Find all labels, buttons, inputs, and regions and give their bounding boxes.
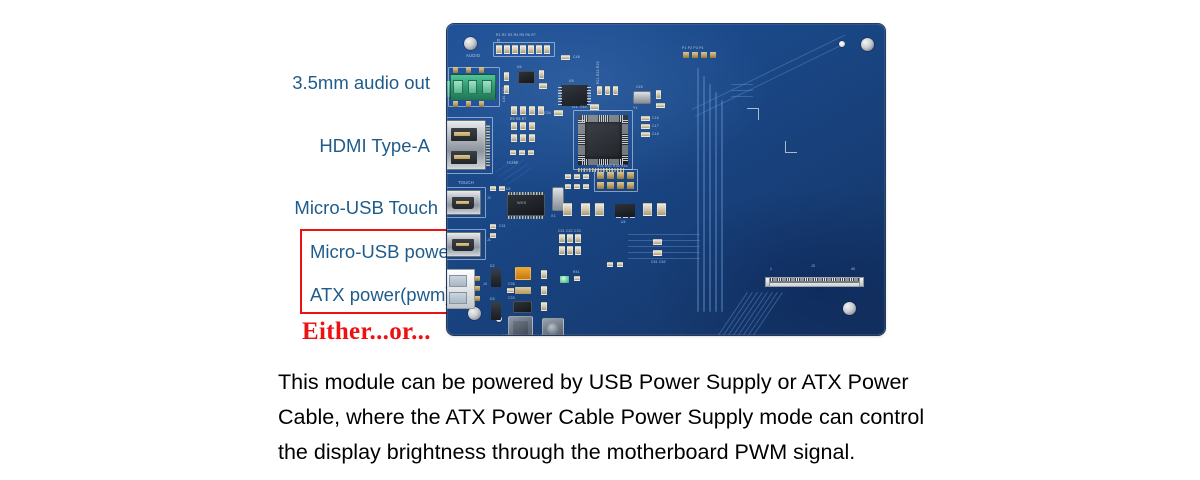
pcb-trace [628, 252, 700, 253]
smd-resistor [529, 122, 535, 130]
callout-label-hdmi: HDMI Type-A [60, 135, 430, 157]
smd-ic-wxs [507, 194, 545, 216]
pcb-trace [731, 90, 753, 91]
silkscreen-outline [594, 169, 638, 192]
smd-resistor [490, 233, 496, 238]
solder-pad [475, 286, 480, 291]
smd-resistor [541, 270, 547, 279]
smd-resistor [574, 184, 580, 189]
smd-resistor [520, 106, 526, 115]
smd-resistor [581, 203, 590, 216]
smd-resistor [529, 106, 535, 115]
smd-resistor [520, 134, 526, 142]
solder-pad [479, 101, 484, 107]
pcb-trace [692, 34, 845, 110]
smd-resistor [559, 234, 565, 243]
silkscreen-text: R31 R32 R33 R34 [597, 164, 628, 169]
description-line-2: Cable, where the ATX Power Cable Power S… [278, 400, 978, 435]
smd-resistor [574, 174, 580, 179]
smd-resistor [643, 203, 652, 216]
solder-pad [466, 101, 471, 107]
smd-resistor [595, 203, 604, 216]
description-line-1: This module can be powered by USB Power … [278, 365, 978, 400]
smd-resistor [541, 286, 547, 295]
pcb-trace [628, 246, 700, 247]
tact-switch[interactable] [542, 318, 564, 335]
solder-pad [453, 67, 458, 73]
smd-resistor [617, 262, 623, 267]
smd-resistor [490, 224, 496, 229]
pcb-trace [695, 42, 847, 117]
silkscreen-outline [493, 42, 555, 57]
smd-resistor [575, 246, 581, 255]
solder-pad [710, 52, 716, 58]
smd-resistor [567, 234, 573, 243]
ic-pin-row [508, 216, 544, 219]
smd-resistor [539, 83, 547, 89]
pcb-trace [715, 92, 717, 312]
solder-pad [692, 52, 698, 58]
smd-resistor [520, 122, 526, 130]
via-hole [839, 41, 845, 47]
mounting-hole [861, 38, 874, 51]
silkscreen-text-ffc-pin1: 1 [770, 267, 772, 272]
silkscreen-text: D3 [490, 297, 495, 302]
silkscreen-text: R9 R8 R7 [510, 117, 527, 122]
silkscreen-text: J4 [483, 282, 487, 287]
silkscreen-text: U2 [506, 187, 511, 192]
status-led [560, 276, 569, 283]
connector-ffc-40pin[interactable] [765, 273, 864, 287]
silkscreen-text: C41 C42 [502, 87, 507, 102]
smd-resistor [490, 186, 496, 191]
silkscreen-text: U6 [517, 65, 522, 70]
mounting-hole [843, 302, 856, 315]
smd-resistor [563, 203, 572, 216]
smd-resistor [511, 122, 517, 130]
smd-resistor [511, 106, 517, 115]
silkscreen-text-audio: AUDIO [466, 53, 480, 58]
smd-resistor [561, 55, 570, 60]
smd-resistor [529, 134, 535, 142]
smd-resistor [641, 124, 650, 129]
smd-resistor [528, 150, 534, 155]
silkscreen-text: C36 [508, 282, 515, 287]
silkscreen-text: X1 [551, 214, 556, 219]
silkscreen-text: C17 [652, 124, 659, 129]
smd-resistor [565, 184, 571, 189]
smd-resistor [510, 150, 516, 155]
silkscreen-text-inductor: L3 [503, 334, 507, 335]
silkscreen-text-regulator: U4 [621, 220, 626, 225]
silkscreen-text: R21 R22 R23 [596, 61, 601, 84]
pcb-trace [628, 234, 700, 235]
pcb-trace [721, 100, 723, 312]
silkscreen-text: C34 [544, 111, 551, 116]
smd-resistor [499, 186, 505, 191]
smd-resistor [653, 250, 662, 256]
pcb-board: R R1 R2 R3 R4 R5 R6 R7 C48 AUDIO C41 C42 [447, 24, 885, 335]
smd-resistor [565, 174, 571, 179]
description-paragraph: This module can be powered by USB Power … [278, 365, 978, 470]
silkscreen-text: J1 [487, 238, 491, 243]
smd-resistor [511, 134, 517, 142]
crystal-oscillator [633, 91, 651, 104]
silkscreen-text: P1 P2 P3 P4 [682, 46, 704, 51]
voltage-regulator [615, 204, 635, 217]
silkscreen-text: J2 [487, 196, 491, 201]
either-or-note: Either...or... [302, 318, 431, 346]
smd-resistor [507, 288, 514, 293]
solder-pad [701, 52, 707, 58]
smd-ic [518, 71, 535, 84]
silkscreen-text-ffc-designator: J3 [811, 264, 815, 269]
smd-resistor [641, 116, 650, 121]
power-inductor [508, 316, 533, 335]
smd-ic [513, 301, 532, 313]
solder-pad [683, 52, 689, 58]
solder-pad [466, 67, 471, 73]
solder-pad [475, 296, 480, 301]
smd-resistor [541, 302, 547, 311]
pcb-trace [709, 84, 711, 312]
description-line-3: the display brightness through the mothe… [278, 435, 978, 470]
smd-resistor [590, 104, 599, 110]
silkscreen-text: R1 R2 R3 R4 R5 R6 R7 [496, 33, 536, 38]
silkscreen-outline [447, 117, 493, 174]
silkscreen-outline [447, 229, 486, 260]
solder-pad [475, 276, 480, 281]
smd-resistor [574, 276, 580, 281]
silkscreen-text: C16 [652, 116, 659, 121]
figure-canvas: 3.5mm audio out HDMI Type-A Micro-USB To… [0, 0, 1200, 480]
silkscreen-text: C31 [499, 224, 506, 229]
smd-resistor [607, 262, 613, 267]
solder-pad [453, 101, 458, 107]
smd-resistor [554, 110, 563, 116]
silkscreen-text: D2 [490, 264, 495, 269]
smd-resistor [605, 86, 610, 95]
ic-pin-row [508, 192, 544, 195]
smd-resistor [504, 72, 509, 81]
callout-label-audio-out: 3.5mm audio out [60, 72, 430, 94]
silkscreen-text: C18 [652, 132, 659, 137]
smd-ic-soic [561, 85, 588, 106]
silkscreen-outline [573, 110, 633, 170]
smd-resistor [641, 132, 650, 137]
silkscreen-text: Y1 [633, 106, 638, 111]
silkscreen-corner-mark [747, 108, 759, 120]
smd-resistor [657, 203, 666, 216]
silkscreen-text: C48 [573, 55, 580, 60]
silkscreen-text: R41 [573, 270, 580, 275]
smd-capacitor [515, 287, 531, 294]
mounting-hole [464, 37, 477, 50]
silkscreen-text: C51 C52 [651, 260, 666, 265]
silkscreen-text: C45 [636, 85, 643, 90]
silkscreen-text-soic: U5 [569, 79, 574, 84]
smd-resistor [597, 86, 602, 95]
silkscreen-text: C21 C22 C23 [558, 229, 581, 234]
solder-pad [479, 67, 484, 73]
smd-diode [491, 302, 501, 320]
ic-marking: WXS [517, 200, 526, 205]
smd-resistor [583, 174, 589, 179]
silkscreen-text: C40 [580, 105, 587, 110]
silkscreen-text-touch: TOUCH [458, 180, 474, 185]
smd-resistor [656, 90, 661, 99]
silkscreen-outline [447, 187, 486, 218]
silkscreen-text-ffc-pin40: 40 [851, 267, 855, 272]
pcb-trace [628, 240, 700, 241]
smd-resistor [559, 246, 565, 255]
smd-diode [491, 269, 501, 287]
silkscreen-corner-mark [785, 141, 797, 153]
tantalum-capacitor [515, 267, 531, 280]
smd-resistor [583, 184, 589, 189]
connector-atx-power[interactable] [447, 269, 475, 309]
smd-resistor [519, 150, 525, 155]
callout-label-micro-usb-touch: Micro-USB Touch [60, 197, 438, 219]
smd-resistor [653, 239, 662, 245]
smd-resistor [613, 86, 618, 95]
smd-resistor [567, 246, 573, 255]
smd-resistor [575, 234, 581, 243]
smd-resistor [539, 70, 544, 79]
smd-resistor [656, 103, 665, 108]
